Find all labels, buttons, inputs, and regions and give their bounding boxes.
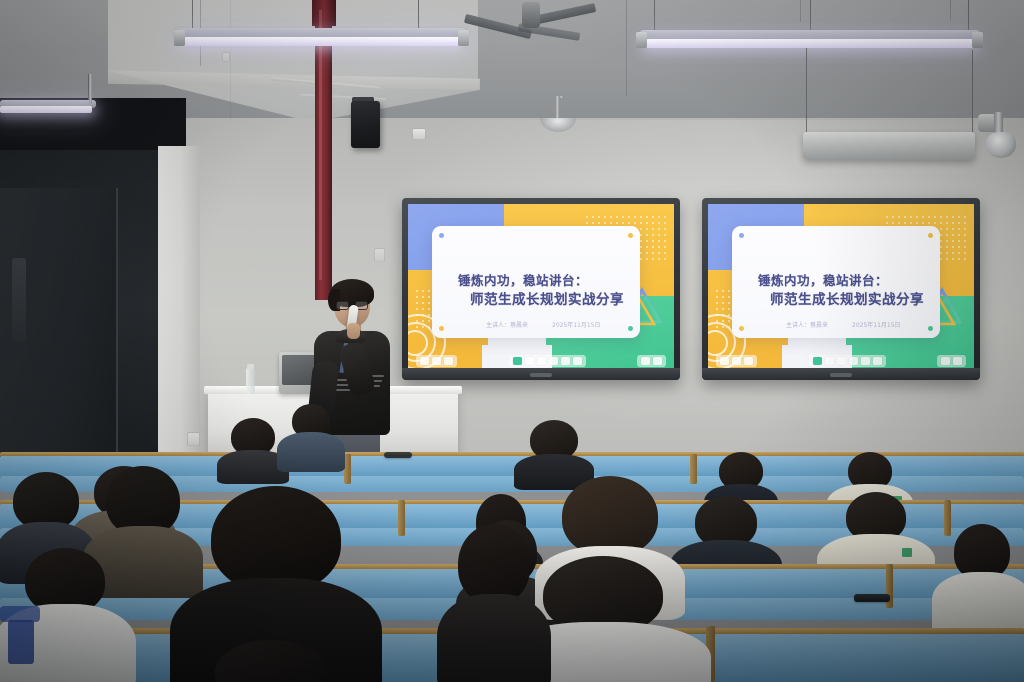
ceiling-panel-line	[950, 0, 951, 20]
left-display-logo	[530, 373, 552, 377]
ppt-chip-active[interactable]	[513, 357, 522, 365]
slide-date: 2025年11月15日	[852, 320, 901, 329]
ppt-chip[interactable]	[561, 357, 570, 365]
student	[196, 640, 346, 682]
card-dot	[739, 326, 744, 331]
ppt-chip[interactable]	[861, 357, 870, 365]
tube-light-end-cap	[972, 32, 983, 48]
ppt-chip[interactable]	[732, 357, 741, 365]
dome-light-stem	[560, 96, 563, 98]
card-dot	[928, 326, 933, 331]
slide-background: 锤炼内功，稳站讲台： 师范生成长规划实战分享 主讲人：蔡晨来 2025年11月1…	[708, 204, 974, 368]
student	[516, 420, 592, 476]
tube-light-right	[646, 39, 974, 48]
ppt-chip[interactable]	[537, 357, 546, 365]
door-handle[interactable]	[12, 258, 26, 342]
slide-date: 2025年11月15日	[552, 320, 601, 329]
ppt-chip[interactable]	[837, 357, 846, 365]
slide-presenter: 主讲人：蔡晨来	[486, 320, 528, 329]
light-hanger	[654, 0, 655, 30]
right-display-logo	[830, 373, 852, 377]
smartphone-on-desk	[384, 452, 412, 458]
ppt-toolbar-group-right[interactable]	[637, 355, 666, 367]
ppt-chip[interactable]	[573, 357, 582, 365]
ppt-toolbar-group-left[interactable]	[416, 355, 457, 367]
ppt-chip[interactable]	[941, 357, 950, 365]
tube-light-far-left	[0, 106, 92, 113]
slide-presenter: 主讲人：蔡晨来	[786, 320, 828, 329]
fixture-hanger	[806, 48, 807, 134]
glasses-lens	[336, 301, 349, 310]
desk-divider	[690, 454, 697, 484]
ppt-toolbar-group-center[interactable]	[809, 355, 886, 367]
ppt-chip[interactable]	[953, 357, 962, 365]
card-dot	[628, 326, 633, 331]
ppt-chip[interactable]	[720, 357, 729, 365]
wall-pillar	[158, 146, 200, 462]
light-hanger	[810, 0, 811, 30]
ceiling-fan	[466, 0, 596, 40]
shirt-collar-trim	[0, 606, 40, 622]
ppt-toolbar[interactable]	[708, 353, 974, 368]
ceiling-panel-line	[800, 0, 801, 22]
student-body	[437, 594, 551, 682]
slide-title-line1: 锤炼内功，稳站讲台：	[758, 270, 888, 289]
ppt-chip[interactable]	[549, 357, 558, 365]
ppt-toolbar[interactable]	[408, 353, 674, 368]
card-dot	[439, 326, 444, 331]
tube-light-end-cap	[174, 30, 185, 46]
ceiling-panel-line	[230, 0, 231, 120]
water-bottle	[246, 368, 255, 394]
presenter-hand	[347, 323, 360, 339]
fan-hub	[522, 2, 540, 28]
ppt-chip[interactable]	[744, 357, 753, 365]
ppt-chip[interactable]	[432, 357, 441, 365]
lecture-hall-photo: 锤炼内功，稳站讲台： 师范生成长规划实战分享 主讲人：蔡晨来 2025年11月1…	[0, 0, 1024, 682]
ppt-chip[interactable]	[420, 357, 429, 365]
ppt-toolbar-group-right[interactable]	[937, 355, 966, 367]
student	[440, 524, 548, 682]
ppt-chip[interactable]	[641, 357, 650, 365]
student	[278, 404, 344, 464]
wall-switch[interactable]	[187, 432, 200, 446]
student	[0, 548, 130, 682]
light-stem	[89, 74, 92, 104]
light-hanger	[968, 0, 969, 30]
ppt-toolbar-group-left[interactable]	[716, 355, 757, 367]
student-head	[215, 640, 327, 682]
card-dot	[928, 233, 933, 238]
tube-light-end-cap	[636, 32, 647, 48]
light-hanger	[192, 0, 193, 30]
desk-divider	[344, 454, 351, 484]
tube-light-left	[182, 37, 460, 46]
left-display-screen[interactable]: 锤炼内功，稳站讲台： 师范生成长规划实战分享 主讲人：蔡晨来 2025年11月1…	[408, 204, 674, 368]
ppt-chip[interactable]	[825, 357, 834, 365]
ppt-chip[interactable]	[653, 357, 662, 365]
ppt-chip[interactable]	[525, 357, 534, 365]
ppt-chip[interactable]	[873, 357, 882, 365]
left-display[interactable]: 锤炼内功，稳站讲台： 师范生成长规划实战分享 主讲人：蔡晨来 2025年11月1…	[402, 198, 680, 380]
wall-speaker	[351, 101, 380, 148]
red-column-cap	[312, 0, 336, 26]
shirt-graphic	[8, 620, 34, 664]
ppt-chip[interactable]	[444, 357, 453, 365]
water-bottle-cap	[247, 364, 254, 369]
slide-title-line2: 师范生成长规划实战分享	[770, 288, 924, 308]
unlit-light-fixture	[803, 132, 975, 160]
student	[936, 524, 1024, 628]
student-body	[277, 432, 345, 472]
student-head	[562, 476, 658, 556]
ppt-chip-active[interactable]	[813, 357, 822, 365]
card-dot	[739, 233, 744, 238]
slide-background: 锤炼内功，稳站讲台： 师范生成长规划实战分享 主讲人：蔡晨来 2025年11月1…	[408, 204, 674, 368]
right-display-screen[interactable]: 锤炼内功，稳站讲台： 师范生成长规划实战分享 主讲人：蔡晨来 2025年11月1…	[708, 204, 974, 368]
smartphone-on-desk	[854, 594, 890, 602]
desk-divider	[398, 500, 405, 536]
wall-plate	[374, 248, 385, 262]
slide-title-line2: 师范生成长规划实战分享	[470, 288, 624, 308]
student-head	[211, 486, 341, 592]
student-body	[932, 572, 1024, 634]
dome-light-stem	[556, 96, 559, 120]
slide-title-line1: 锤炼内功，稳站讲台：	[458, 270, 588, 289]
card-dot	[439, 233, 444, 238]
shirt-badge	[902, 548, 912, 557]
security-camera-icon	[986, 132, 1016, 158]
ppt-chip[interactable]	[849, 357, 858, 365]
light-hanger	[418, 0, 419, 28]
red-column-highlight	[319, 10, 322, 280]
ceiling-panel-line	[626, 0, 627, 96]
ppt-toolbar-group-center[interactable]	[509, 355, 586, 367]
wall-plate	[412, 128, 426, 140]
fixture-hanger	[972, 50, 973, 134]
student-head	[458, 524, 530, 604]
right-display[interactable]: 锤炼内功，稳站讲台： 师范生成长规划实战分享 主讲人：蔡晨来 2025年11月1…	[702, 198, 980, 380]
card-dot	[628, 233, 633, 238]
wall-plate	[222, 52, 230, 62]
